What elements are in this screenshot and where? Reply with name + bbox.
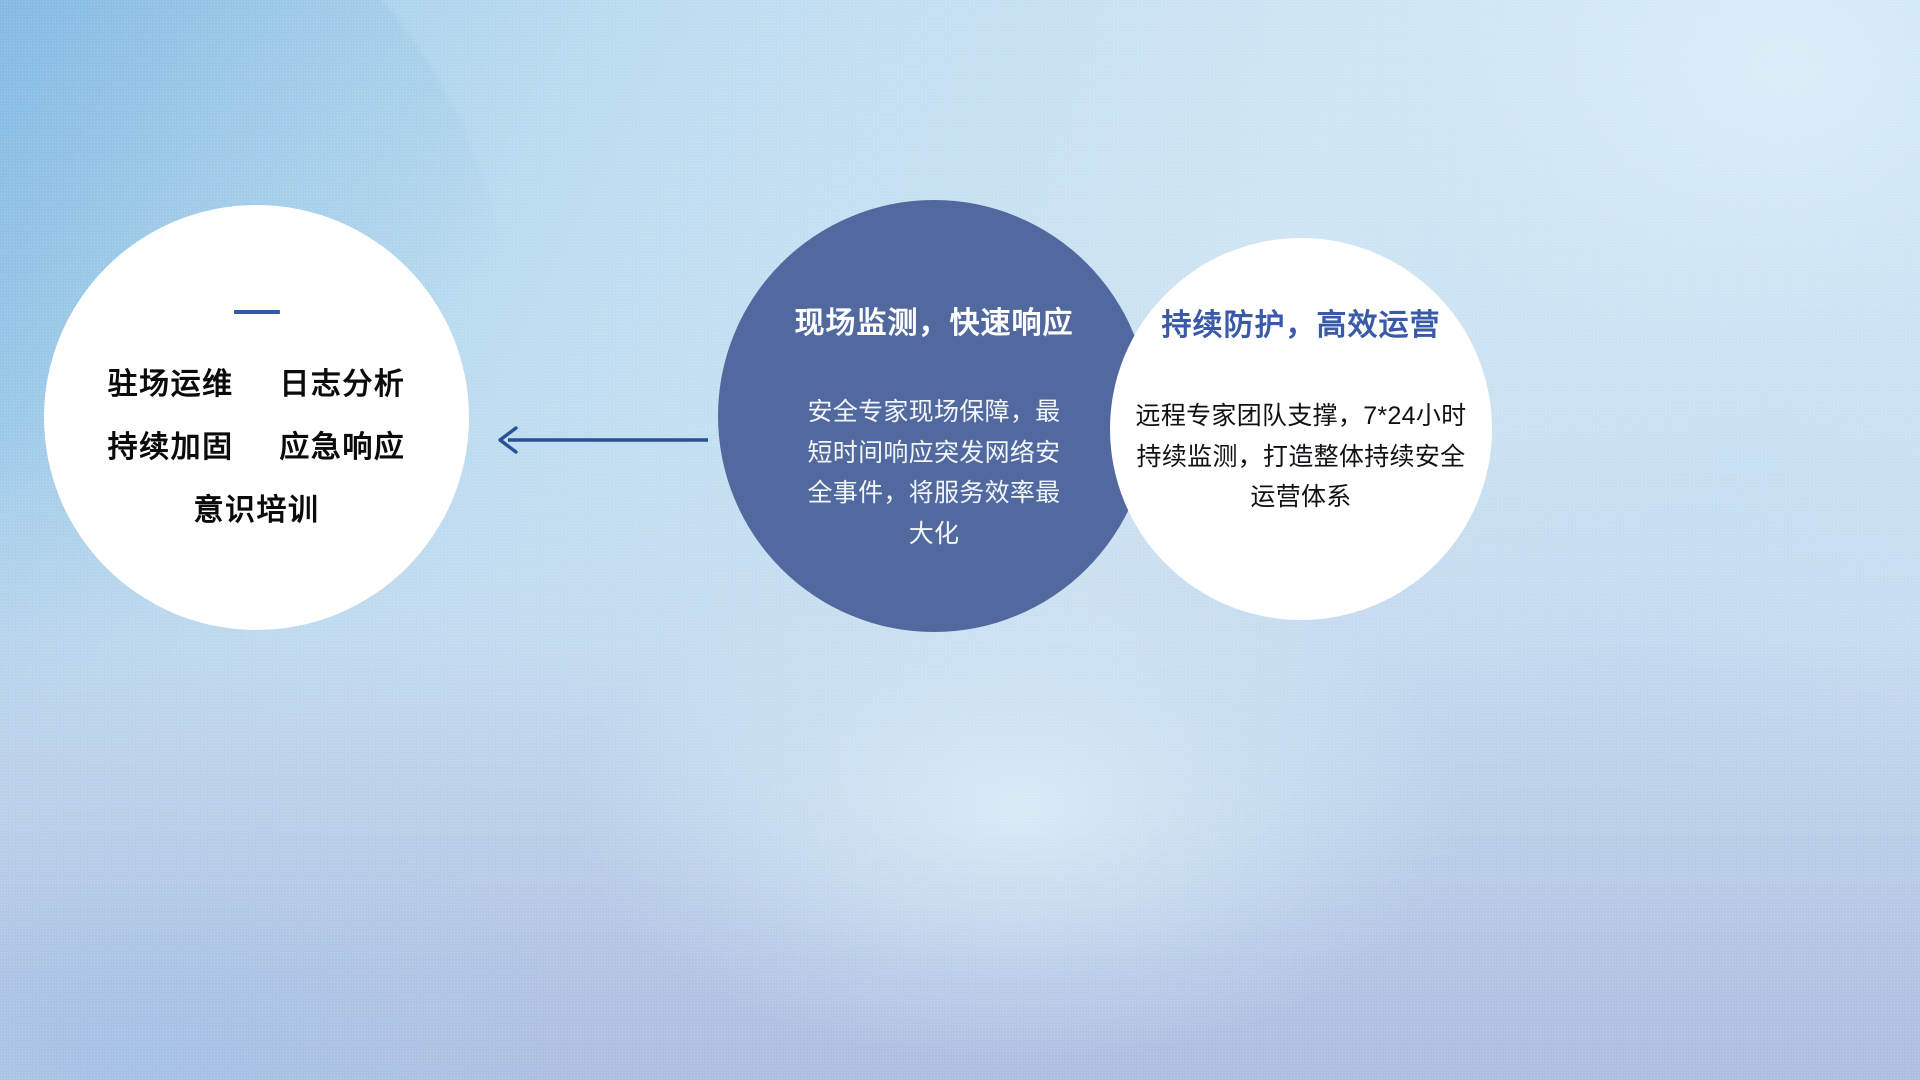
capability-circle-left[interactable]: 驻场运维 日志分析 持续加固 应急响应 意识培训: [44, 205, 469, 630]
right-card-content: 持续防护，高效运营 远程专家团队支撑，7*24小时持续监测，打造整体持续安全运营…: [1110, 238, 1492, 620]
divider-dash: [234, 310, 280, 314]
right-card-title: 持续防护，高效运营: [1162, 300, 1441, 344]
middle-card-content: 现场监测，快速响应 安全专家现场保障，最短时间响应突发网络安全事件，将服务效率最…: [718, 200, 1150, 632]
capability-item: 日志分析: [279, 368, 405, 401]
capability-item: 意识培训: [194, 494, 320, 527]
capability-row: 驻场运维 日志分析: [108, 370, 406, 400]
capability-row: 意识培训: [194, 496, 320, 526]
connector-arrow: [480, 418, 710, 467]
capability-item: 应急响应: [279, 431, 405, 464]
capability-item: 持续加固: [108, 431, 234, 464]
middle-card-title: 现场监测，快速响应: [795, 298, 1074, 342]
capability-list: 驻场运维 日志分析 持续加固 应急响应 意识培训: [44, 205, 469, 630]
capability-row: 持续加固 应急响应: [108, 433, 406, 463]
capability-circle-right[interactable]: 持续防护，高效运营 远程专家团队支撑，7*24小时持续监测，打造整体持续安全运营…: [1110, 238, 1492, 620]
capability-circle-middle[interactable]: 现场监测，快速响应 安全专家现场保障，最短时间响应突发网络安全事件，将服务效率最…: [718, 200, 1150, 632]
right-card-body: 远程专家团队支撑，7*24小时持续监测，打造整体持续安全运营体系: [1131, 396, 1471, 518]
arrow-left-icon: [480, 418, 710, 462]
middle-card-body: 安全专家现场保障，最短时间响应突发网络安全事件，将服务效率最大化: [800, 392, 1068, 554]
capability-item: 驻场运维: [108, 368, 234, 401]
